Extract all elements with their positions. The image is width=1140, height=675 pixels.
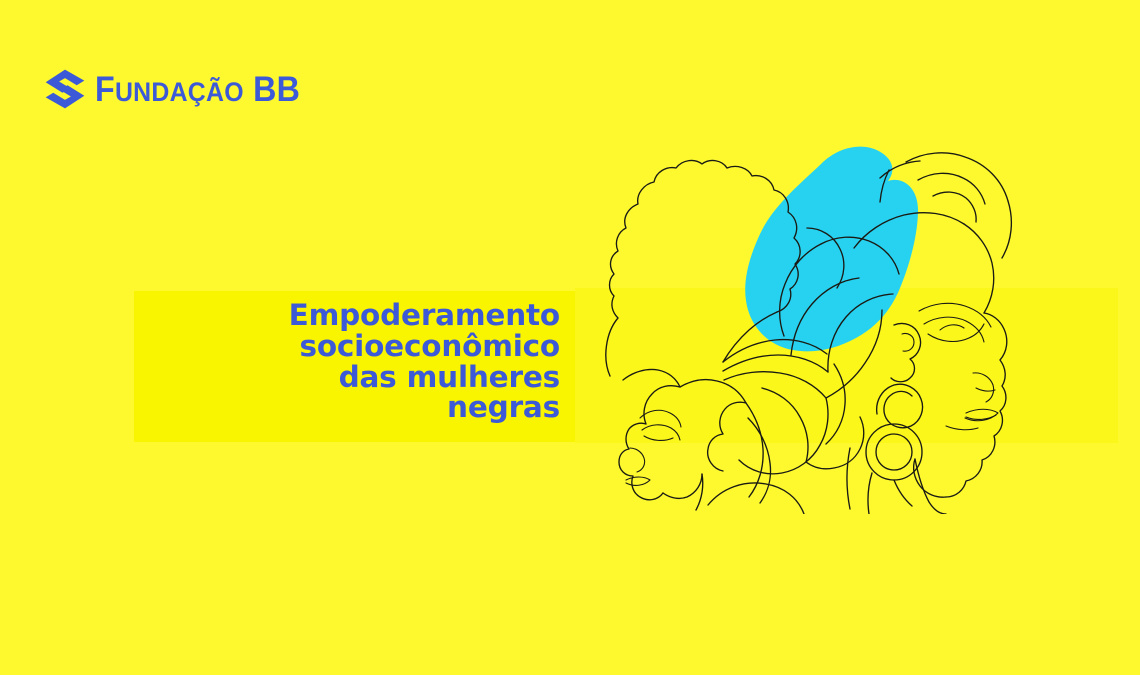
page-title: Empoderamento socioeconômico das mulhere… (180, 300, 560, 423)
wordmark-letter-b2: B (277, 70, 301, 109)
banner: FUNDAÇÃO BB Empoderamento socioeconômico… (0, 0, 1140, 675)
cyan-blob (745, 147, 918, 352)
wordmark-letter-f: F (95, 70, 115, 109)
fundacao-bb-wordmark: FUNDAÇÃO BB (95, 72, 300, 107)
fundacao-bb-logo[interactable]: FUNDAÇÃO BB (44, 68, 318, 110)
wordmark-space (244, 70, 253, 109)
bb-diamond-logo-icon (44, 68, 86, 110)
wordmark-undacao: UNDAÇÃO (115, 77, 244, 107)
three-black-women-line-art-illustration: .ln { fill:none; stroke:#1A1A14; stroke-… (588, 118, 1058, 514)
wordmark-letter-b1: B (253, 70, 277, 109)
